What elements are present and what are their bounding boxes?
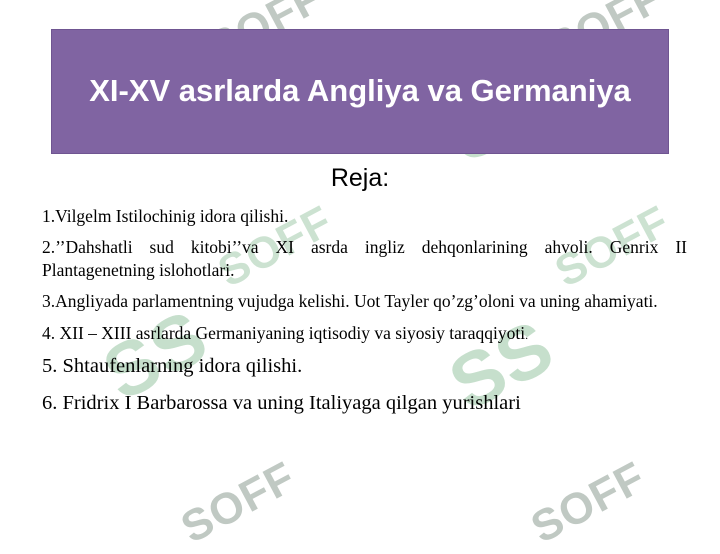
list-item-suffix: . <box>525 328 528 342</box>
slide-title: XI-XV asrlarda Angliya va Germaniya <box>80 71 640 112</box>
list-item: 6. Fridrix I Barbarossa va uning Italiya… <box>42 390 687 416</box>
agenda-list: 1.Vilgelm Istilochinig idora qilishi. 2.… <box>0 205 720 416</box>
list-item: 2.’’Dahshatli sud kitobi’’va XI asrda in… <box>42 236 687 281</box>
watermark-text: SOFF <box>523 452 654 553</box>
list-item: 3.Angliyada parlamentning vujudga kelish… <box>42 290 687 312</box>
list-item: 4. XII – XIII asrlarda Germaniyaning iqt… <box>42 322 687 344</box>
list-item: 5. Shtaufenlarning idora qilishi. <box>42 353 687 379</box>
list-item-text: 4. XII – XIII asrlarda Germaniyaning iqt… <box>42 323 525 343</box>
list-item: 1.Vilgelm Istilochinig idora qilishi. <box>42 205 687 227</box>
slide-body: Reja: 1.Vilgelm Istilochinig idora qilis… <box>0 158 720 427</box>
slide-title-box: XI-XV asrlarda Angliya va Germaniya <box>51 29 669 154</box>
slide-subtitle: Reja: <box>0 164 720 193</box>
watermark-text: SOFF <box>173 452 304 553</box>
